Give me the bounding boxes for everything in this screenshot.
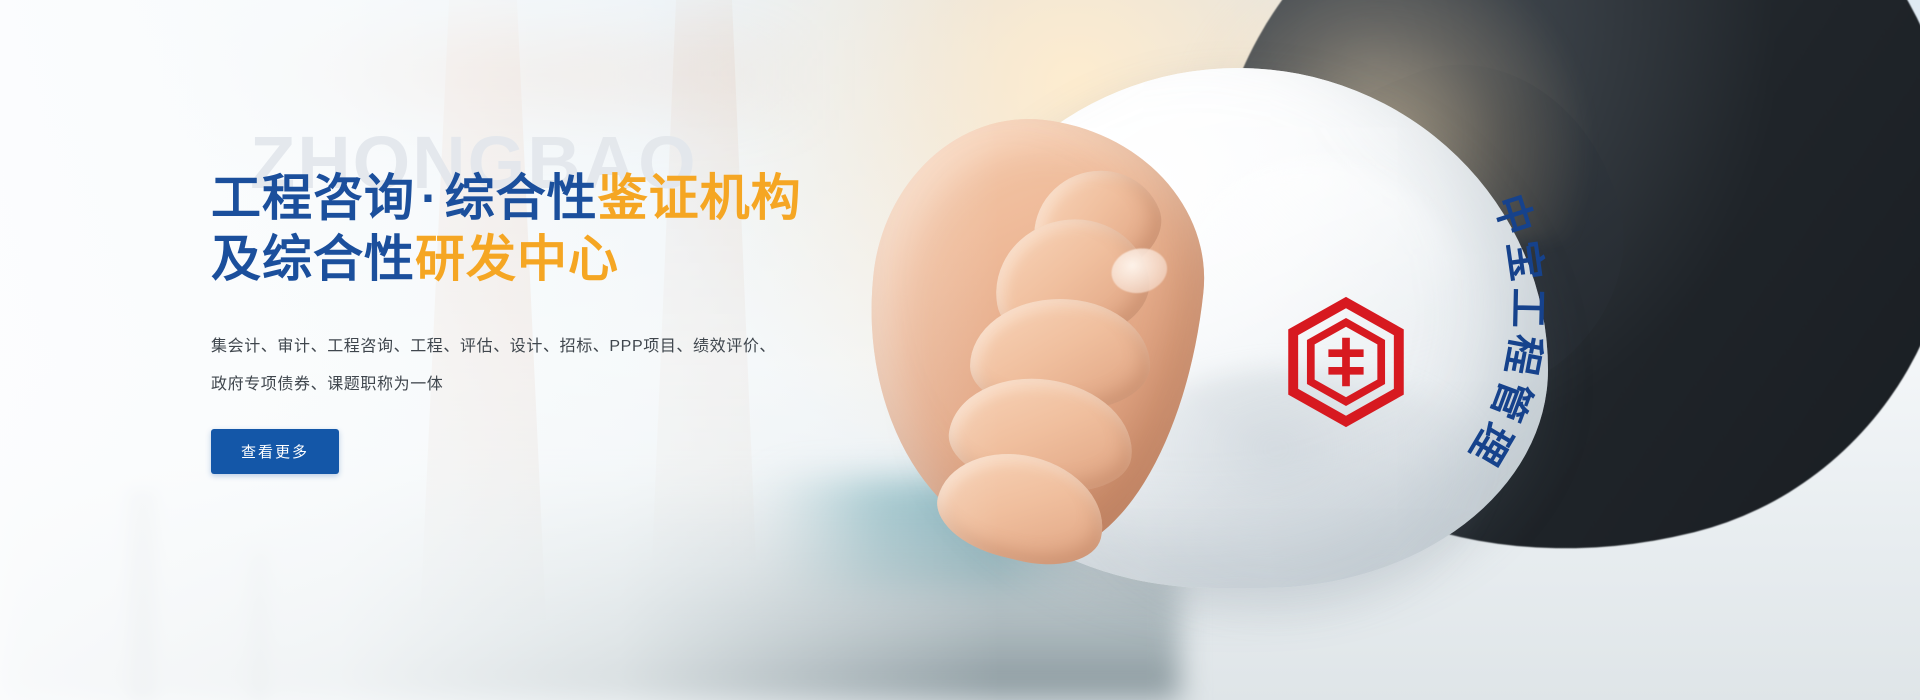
headline-separator: · bbox=[415, 170, 445, 226]
description: 集会计、审计、工程咨询、工程、评估、设计、招标、PPP项目、绩效评价、 政府专项… bbox=[211, 328, 911, 403]
hero-copy: ZHONGBAO 工程咨询·综合性鉴证机构 及综合性研发中心 集会计、审计、工程… bbox=[211, 120, 911, 474]
headline-line2-orange: 研发中心 bbox=[415, 231, 619, 287]
description-line-1: 集会计、审计、工程咨询、工程、评估、设计、招标、PPP项目、绩效评价、 bbox=[211, 328, 911, 366]
headline-line-2: 及综合性研发中心 bbox=[211, 229, 911, 290]
headline-line1-blue: 工程咨询 bbox=[211, 170, 415, 226]
hero-banner: 中宝工程管理 ZHONGBAO 工程咨询·综合性鉴证机构 bbox=[0, 0, 1920, 700]
description-line-2: 政府专项债券、课题职称为一体 bbox=[211, 366, 911, 404]
headline-line-1: 工程咨询·综合性鉴证机构 bbox=[211, 168, 911, 229]
zhongbao-hexagon-emblem-icon bbox=[1280, 296, 1412, 428]
headline-line2-blue: 及综合性 bbox=[211, 231, 415, 287]
headline-line1-orange: 鉴证机构 bbox=[598, 170, 802, 226]
headline-line1-blue-2: 综合性 bbox=[445, 170, 598, 226]
headline: 工程咨询·综合性鉴证机构 及综合性研发中心 bbox=[211, 168, 911, 290]
view-more-button[interactable]: 查看更多 bbox=[211, 429, 339, 474]
